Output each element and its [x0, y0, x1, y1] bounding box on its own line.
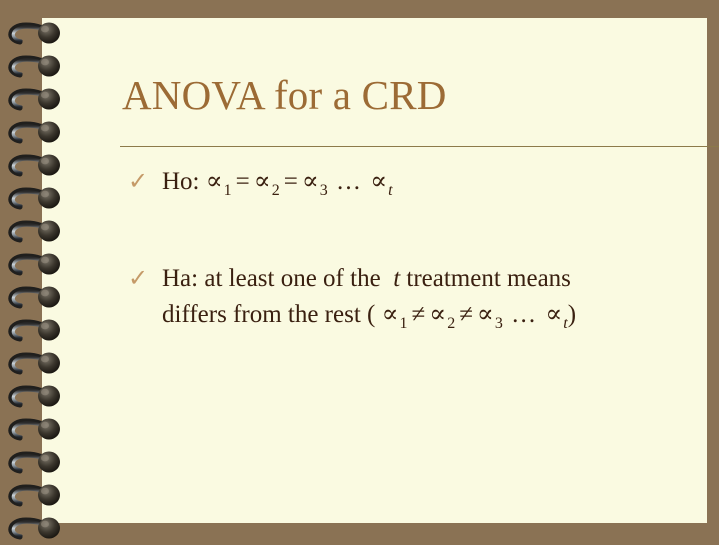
bullet-item-alternative-hypothesis: ✓ Ha: at least one of the t treatment me…	[128, 263, 719, 340]
ha-prefix: Ha:	[162, 265, 198, 292]
title-divider	[120, 146, 719, 147]
alpha-subscript-1-ha: 1	[399, 315, 408, 332]
alpha-symbol-t: ∝	[370, 168, 387, 195]
equals-operator-1: =	[232, 168, 254, 195]
alpha-symbol-3: ∝	[302, 168, 319, 195]
slide-root: ANOVA for a CRD ✓ Ho: ∝1=∝2=∝3 … ∝t ✓ Ha…	[0, 0, 719, 539]
alpha-subscript-1: 1	[223, 182, 232, 199]
ho-prefix: Ho:	[162, 168, 200, 195]
alpha-subscript-2: 2	[271, 182, 280, 199]
bullet-text-alternative-line-1: Ha: at least one of the t treatment mean…	[128, 263, 719, 295]
alpha-symbol-2: ∝	[254, 168, 271, 195]
not-equals-operator-2: ≠	[455, 301, 477, 328]
bullet-item-null-hypothesis: ✓ Ho: ∝1=∝2=∝3 … ∝t	[128, 166, 719, 207]
alpha-subscript-3-ha: 3	[494, 315, 503, 332]
ha-text-part-3: differs from the rest (	[162, 301, 375, 328]
alpha-symbol-2-ha: ∝	[429, 301, 446, 328]
alpha-symbol-1-ha: ∝	[382, 301, 399, 328]
slide-body: ✓ Ho: ∝1=∝2=∝3 … ∝t ✓ Ha: at least one o…	[128, 166, 719, 340]
closing-paren: )	[568, 301, 576, 328]
ellipsis-1: …	[334, 168, 364, 195]
alpha-subscript-2-ha: 2	[446, 315, 455, 332]
alpha-subscript-t: t	[387, 182, 392, 199]
bullet-text-alternative-line-2: differs from the rest ( ∝1≠∝2≠∝3 … ∝t)	[128, 299, 719, 340]
alpha-subscript-3: 3	[319, 182, 328, 199]
ha-text-part-1: at least one of the	[204, 265, 380, 292]
ha-text-part-2: treatment means	[406, 265, 571, 292]
notebook-page: ANOVA for a CRD ✓ Ho: ∝1=∝2=∝3 … ∝t ✓ Ha…	[42, 18, 707, 523]
equals-operator-2: =	[280, 168, 302, 195]
alpha-symbol-t-ha: ∝	[545, 301, 562, 328]
alpha-symbol-3-ha: ∝	[477, 301, 494, 328]
ellipsis-2: …	[509, 301, 539, 328]
alpha-symbol-1: ∝	[206, 168, 223, 195]
bullet-text-null-hypothesis: Ho: ∝1=∝2=∝3 … ∝t	[128, 166, 719, 207]
page-title: ANOVA for a CRD	[122, 70, 719, 120]
checkmark-icon: ✓	[128, 265, 154, 293]
not-equals-operator-1: ≠	[408, 301, 430, 328]
checkmark-icon: ✓	[128, 168, 154, 196]
